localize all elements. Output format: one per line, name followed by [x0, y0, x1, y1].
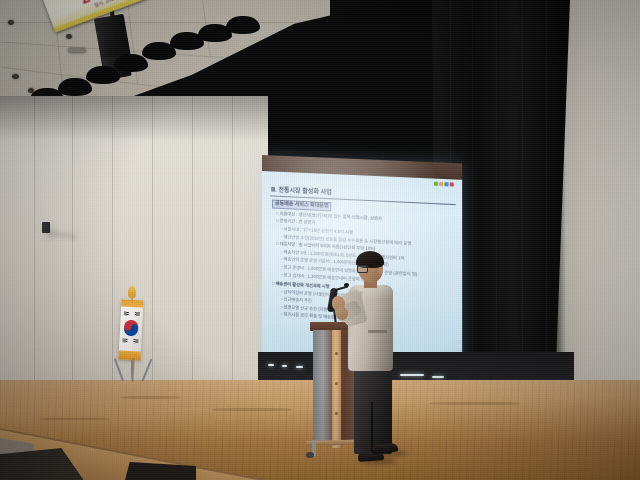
- logo-square: [434, 182, 438, 186]
- floor-grain: [212, 408, 292, 411]
- drape-scallop: [86, 66, 120, 84]
- flag-stand-leg: [131, 358, 134, 382]
- wall-shadow: [0, 96, 268, 142]
- ceiling-vent: [68, 48, 86, 53]
- presenter-hand: [336, 307, 348, 320]
- drape-scallop: [58, 78, 92, 96]
- slide-logo: [434, 182, 454, 187]
- presenter: [338, 252, 418, 472]
- logo-square: [444, 182, 448, 186]
- logo-square: [450, 182, 454, 186]
- jacket-pocket: [368, 330, 387, 333]
- trigram-ri: [122, 339, 127, 343]
- ceiling-downlight: [12, 74, 19, 79]
- floor-grain: [430, 402, 520, 405]
- floor-grain: [40, 418, 110, 420]
- flag-stand: [118, 358, 148, 382]
- ceiling-downlight: [8, 20, 14, 25]
- presenter-trousers: [354, 366, 392, 454]
- presenter-ear: [378, 267, 383, 274]
- drape-scallop: [114, 54, 148, 72]
- stage-floor-light: [432, 376, 444, 378]
- stage-floor-light: [268, 364, 274, 366]
- korean-flag: [118, 299, 143, 360]
- trigram-gam: [135, 312, 140, 316]
- photo-scene: Ⅲ. 전통시장 활성화 사업 공동배송 서비스 확대운영 □ 지원대상 : 생산…: [0, 0, 640, 480]
- trigram-geon: [124, 312, 129, 316]
- ceiling-tile-line: [0, 22, 330, 23]
- floor-grain: [120, 396, 180, 399]
- logo-square: [439, 182, 443, 186]
- wall-speaker-icon: [42, 222, 50, 233]
- flag-top-band: [121, 299, 143, 307]
- glasses-bridge: [366, 267, 369, 268]
- stage-floor-light: [296, 366, 303, 368]
- ceiling-downlight: [66, 34, 72, 39]
- trigram-gon: [133, 339, 138, 343]
- podium-caster: [306, 452, 314, 458]
- stage-floor-light: [282, 365, 287, 367]
- drape-scallop: [226, 16, 260, 34]
